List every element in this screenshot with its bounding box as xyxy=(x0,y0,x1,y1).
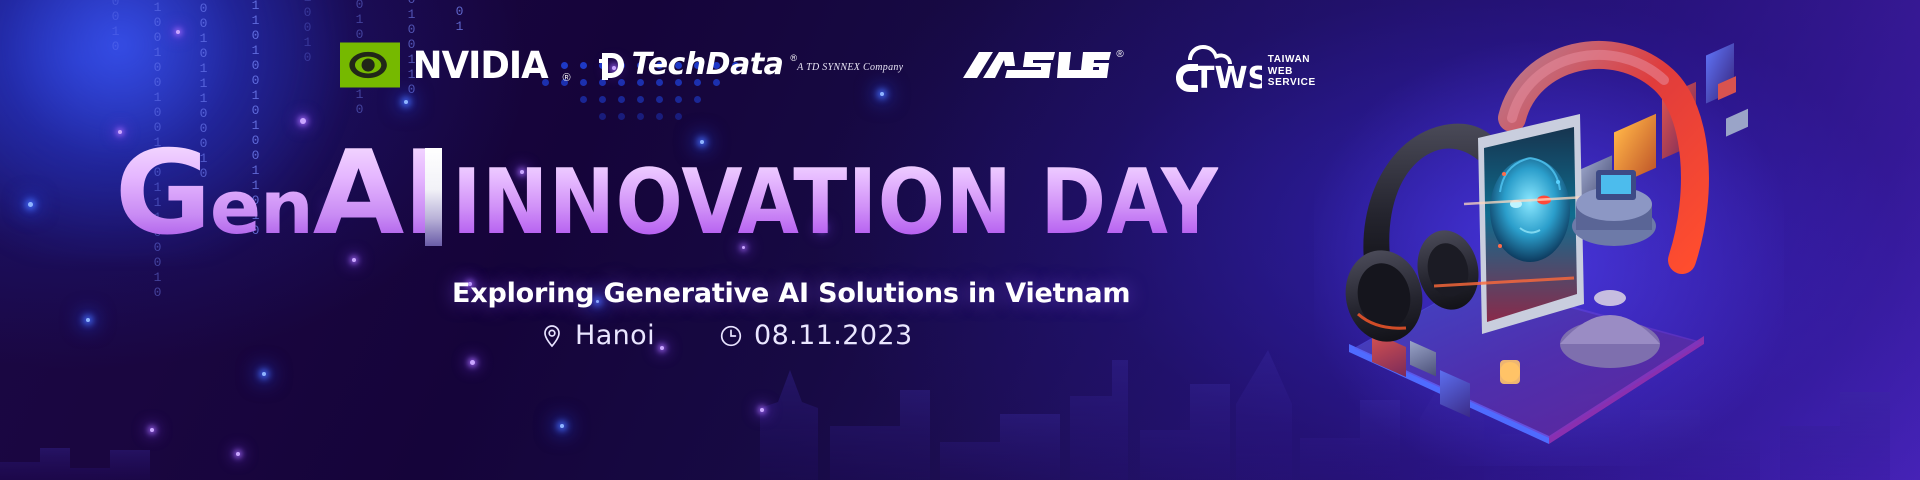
partner-logo-row: NVIDIA ® TechData ® A TD SYNNEX Company xyxy=(340,34,1316,96)
grid-dot xyxy=(656,113,663,120)
ai-face-render xyxy=(1490,158,1570,262)
logo-tech-data[interactable]: TechData ® A TD SYNNEX Company xyxy=(599,50,904,80)
nvidia-wordmark: NVIDIA xyxy=(413,47,548,84)
isometric-ai-tech-artwork xyxy=(1314,14,1784,466)
sparkle-particle xyxy=(236,452,240,456)
sparkle-particle xyxy=(262,372,266,376)
event-location: Hanoi xyxy=(540,320,655,351)
techdata-d-icon xyxy=(599,50,625,80)
genai-innovation-day-banner: 0010101001001001001110001010010111000101… xyxy=(0,0,1920,480)
sparkle-particle xyxy=(28,202,33,207)
grid-dot xyxy=(599,96,606,103)
grid-dot xyxy=(637,113,644,120)
sparkle-particle xyxy=(404,100,408,104)
genai-g: G xyxy=(115,126,210,261)
event-date: 08.11.2023 xyxy=(719,320,913,351)
sparkle-particle xyxy=(470,360,475,365)
event-subtitle: Exploring Generative AI Solutions in Vie… xyxy=(452,278,1130,309)
asus-logo-icon xyxy=(963,48,1113,82)
grid-dot xyxy=(637,96,644,103)
binary-digit-column: 0110010 xyxy=(300,0,315,65)
innovation-day-title: INNOVATION DAY xyxy=(452,150,1219,255)
location-label: Hanoi xyxy=(575,320,655,351)
sparkle-particle xyxy=(700,140,704,144)
tws-line-web: WEB xyxy=(1268,66,1316,77)
tws-service-lines: TAIWAN WEB SERVICE xyxy=(1268,54,1316,92)
tws-line-taiwan: TAIWAN xyxy=(1268,54,1316,65)
grid-dot xyxy=(580,96,587,103)
binary-digit-column: 0010 xyxy=(108,0,123,54)
sparkle-particle xyxy=(150,428,154,432)
techdata-wordmark: TechData xyxy=(632,50,784,80)
grid-dot xyxy=(694,96,701,103)
location-pin-icon xyxy=(540,324,564,348)
sparkle-particle xyxy=(86,318,90,322)
grid-dot xyxy=(618,96,625,103)
sparkle-particle xyxy=(560,424,564,428)
logo-tws[interactable]: TWS TAIWAN WEB SERVICE xyxy=(1168,38,1316,92)
grid-dot xyxy=(599,113,606,120)
sparkle-particle xyxy=(176,30,180,34)
cloud-icon: TWS xyxy=(1168,38,1262,92)
sparkle-particle xyxy=(300,118,306,124)
logo-asus[interactable]: ® xyxy=(963,48,1123,82)
grid-dot xyxy=(656,96,663,103)
event-meta-row: Hanoi 08.11.2023 xyxy=(540,320,913,351)
genai-en: en xyxy=(210,165,313,251)
asus-trademark: ® xyxy=(1116,49,1123,60)
headline-divider-bar xyxy=(425,148,442,246)
nvidia-eye-icon xyxy=(340,42,400,88)
techdata-tagline: A TD SYNNEX Company xyxy=(797,62,903,73)
grid-dot xyxy=(675,113,682,120)
sparkle-particle xyxy=(760,408,764,412)
logo-nvidia[interactable]: NVIDIA ® xyxy=(340,42,571,88)
genai-wordmark: GenAI xyxy=(115,142,444,260)
clock-icon xyxy=(719,324,743,348)
grid-dot xyxy=(675,96,682,103)
date-label: 08.11.2023 xyxy=(754,320,913,351)
svg-text:TWS: TWS xyxy=(1194,61,1262,92)
grid-dot xyxy=(618,113,625,120)
tws-line-service: SERVICE xyxy=(1268,77,1316,88)
nvidia-trademark: ® xyxy=(562,72,570,88)
binary-digit-column: 1001 xyxy=(452,0,467,34)
